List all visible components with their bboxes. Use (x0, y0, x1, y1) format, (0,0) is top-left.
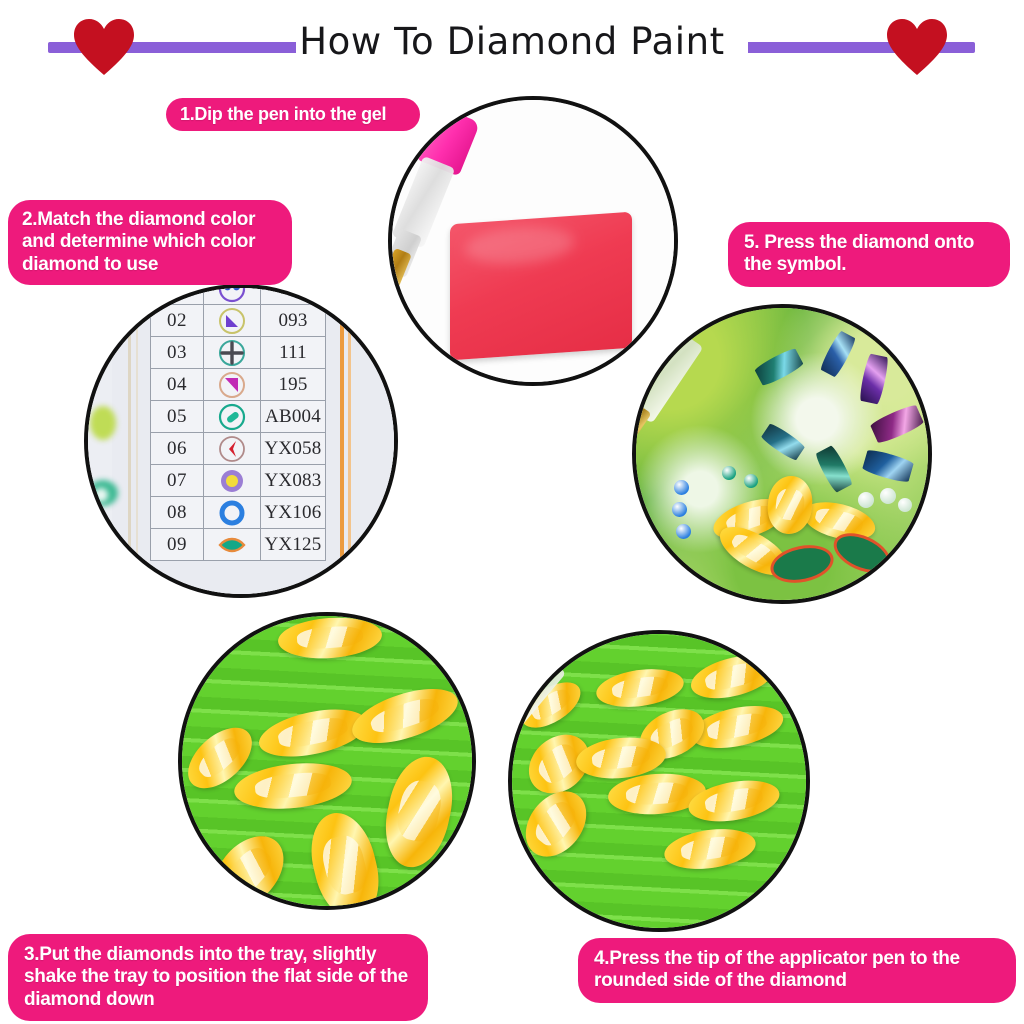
pressing-diamond-onto-canvas-photo (632, 304, 932, 604)
color-code: YX106 (261, 497, 326, 529)
row-number: 05 (151, 401, 204, 433)
row-number (151, 284, 204, 305)
table-row: 08 YX106 (151, 497, 326, 529)
magenta-triangle-symbol (204, 369, 261, 401)
row-number: 08 (151, 497, 204, 529)
grey-plus-symbol (204, 337, 261, 369)
blue-double-eye-symbol (204, 284, 261, 305)
page-header: How To Diamond Paint (0, 0, 1024, 92)
table-row: 028 (151, 284, 326, 305)
teal-leaf-orange-outline-symbol (204, 529, 261, 561)
table-row: 03 111 (151, 337, 326, 369)
diamonds-in-tray-photo (178, 612, 476, 910)
teal-capsule-symbol (204, 401, 261, 433)
table-row: 04 195 (151, 369, 326, 401)
color-code: YX083 (261, 465, 326, 497)
color-code: YX058 (261, 433, 326, 465)
step-1-label: 1.Dip the pen into the gel (166, 98, 420, 131)
step-5-label: 5. Press the diamond onto the symbol. (728, 222, 1010, 287)
color-code: 028 (261, 284, 326, 305)
red-chevron-symbol (204, 433, 261, 465)
color-symbol-chart-photo: 028 02 093 03 111 (84, 284, 398, 598)
table-row: 05 AB004 (151, 401, 326, 433)
table-row: 07 YX083 (151, 465, 326, 497)
row-number: 07 (151, 465, 204, 497)
row-number: 09 (151, 529, 204, 561)
applicator-pen-picking-diamond-photo (508, 630, 810, 932)
row-number: 03 (151, 337, 204, 369)
table-row: 06 YX058 (151, 433, 326, 465)
step-2-label: 2.Match the diamond color and determine … (8, 200, 292, 285)
color-symbol-table: 028 02 093 03 111 (150, 284, 326, 561)
color-code: AB004 (261, 401, 326, 433)
purple-triangle-symbol (204, 305, 261, 337)
color-code: YX125 (261, 529, 326, 561)
yellow-dot-purple-ring-symbol (204, 465, 261, 497)
step-3-label: 3.Put the diamonds into the tray, slight… (8, 934, 428, 1021)
step-4-label: 4.Press the tip of the applicator pen to… (578, 938, 1016, 1003)
table-row: 02 093 (151, 305, 326, 337)
blue-ring-symbol (204, 497, 261, 529)
gel-pad-graphic (450, 212, 632, 361)
row-number: 06 (151, 433, 204, 465)
color-code: 111 (261, 337, 326, 369)
pen-dipping-into-gel-photo (388, 96, 678, 386)
row-number: 02 (151, 305, 204, 337)
row-number: 04 (151, 369, 204, 401)
page-title: How To Diamond Paint (0, 20, 1024, 63)
table-row: 09 YX125 (151, 529, 326, 561)
infographic-root: How To Diamond Paint 1.Dip the pen into … (0, 0, 1024, 1024)
color-code: 093 (261, 305, 326, 337)
color-code: 195 (261, 369, 326, 401)
